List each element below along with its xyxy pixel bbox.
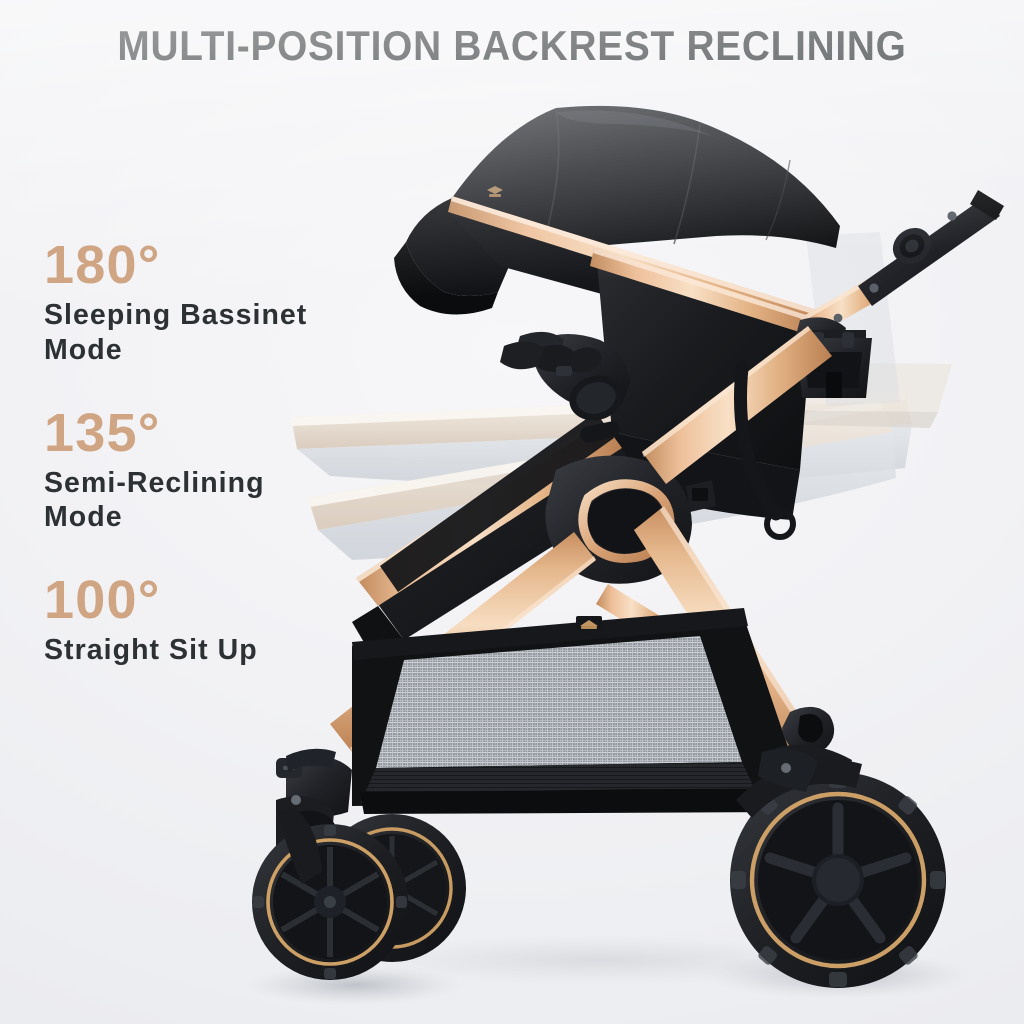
basket-logo-icon bbox=[576, 616, 602, 630]
spec-label-100: Straight Sit Up bbox=[44, 633, 396, 668]
spec-item-100: 100° Straight Sit Up bbox=[44, 573, 396, 668]
handlebar-rivet bbox=[947, 211, 956, 220]
spec-angle-100: 100° bbox=[44, 573, 396, 628]
spec-label-180: Sleeping Bassinet Mode bbox=[44, 298, 396, 368]
spec-angle-180: 180° bbox=[44, 238, 396, 293]
infographic-canvas: MULTI-POSITION BACKREST RECLINING bbox=[0, 0, 1024, 1024]
front-wheel-near bbox=[252, 824, 408, 980]
handlebar-rivet bbox=[869, 283, 878, 292]
rear-wheel-assembly bbox=[730, 759, 946, 988]
spec-label-135: Semi-Reclining Mode bbox=[44, 466, 396, 536]
spec-item-135: 135° Semi-Reclining Mode bbox=[44, 406, 396, 536]
storage-basket bbox=[352, 608, 806, 814]
spec-item-180: 180° Sleeping Bassinet Mode bbox=[44, 238, 396, 368]
spec-list: 180° Sleeping Bassinet Mode 135° Semi-Re… bbox=[44, 238, 396, 668]
spec-angle-135: 135° bbox=[44, 406, 396, 461]
